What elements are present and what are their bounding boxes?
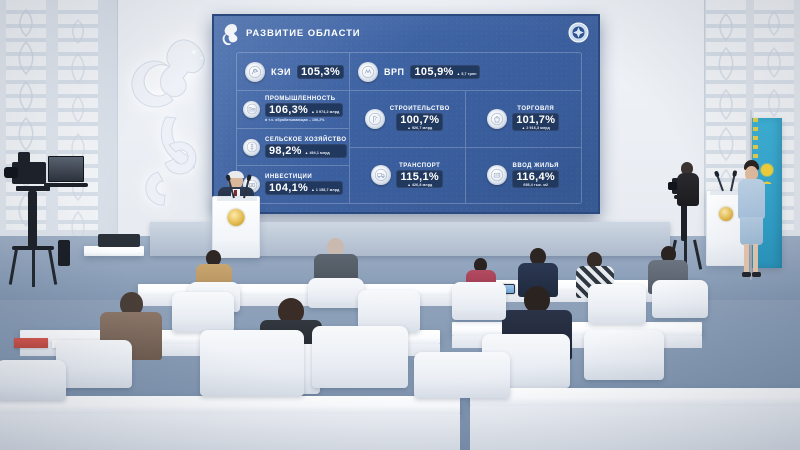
audience-chair-front: [0, 360, 66, 400]
coin-icon: [245, 62, 265, 82]
kpi-value: 116,4%: [516, 171, 555, 183]
audience-chair: [588, 284, 646, 324]
audience-desk-row-1: [0, 396, 460, 414]
presentation-screen[interactable]: РАЗВИТИЕ ОБЛАСТИ: [212, 14, 600, 214]
kpi-value-pill: 105,9% ▲ 5,7 трлн: [410, 65, 480, 79]
kpi-value: 100,7%: [400, 114, 439, 126]
kpi-value-pill: 101,7% ▲ 2 916,3 млрд: [512, 113, 559, 131]
audience-desk-row-1b-front: [470, 406, 800, 450]
audience-chair-front: [312, 326, 408, 388]
speaker-podium: [212, 196, 260, 258]
tripod-leg: [693, 240, 702, 270]
presenter-leg: [753, 244, 758, 274]
state-emblem-icon: [228, 209, 245, 226]
kpi-value: 104,1%: [269, 182, 308, 194]
kpi-note: ▲ 5,7 трлн: [457, 72, 477, 76]
kpi-text: ТРАНСПОРТ 115,1% ▲ 426,8 млрд: [396, 163, 443, 188]
wheat-coin-icon: [243, 139, 260, 156]
kpi-note: ▲ 2 916,3 млрд: [522, 126, 550, 130]
kpi-caption: СТРОИТЕЛЬСТВО: [390, 106, 450, 112]
kpi-value-pill: 105,3%: [297, 65, 344, 79]
kpi-value-pill: 115,1% ▲ 426,8 млрд: [396, 170, 443, 188]
audience-chair-front: [200, 330, 304, 396]
kpi-note: ▲ 426,8 млрд: [407, 183, 432, 187]
kpi-card-transport[interactable]: ТРАНСПОРТ 115,1% ▲ 426,8 млрд: [350, 148, 466, 204]
kpi-note: ▲ 1 158,7 млрд: [311, 188, 339, 192]
teleprompter-mount: [44, 183, 88, 187]
side-table: [84, 246, 144, 256]
kpi-value: 115,1%: [400, 171, 439, 183]
audience-desk-row-1b: [470, 388, 800, 406]
camera-viewfinder: [18, 152, 30, 163]
person-camera-operator: [676, 162, 700, 206]
audience-chair-front: [414, 352, 510, 398]
kpi-card-kei[interactable]: КЭИ 105,3%: [237, 53, 349, 91]
kpi-value-pill: 100,7% ▲ 926,7 млрд: [396, 113, 443, 131]
kpi-caption: ВВОД ЖИЛЬЯ: [513, 163, 559, 169]
kpi-card-vrp[interactable]: ВРП 105,9% ▲ 5,7 трлн: [350, 53, 581, 91]
kpi-caption: КЭИ: [271, 67, 291, 77]
kpi-text: ВВОД ЖИЛЬЯ 116,4% 695,4 тыс. м2: [512, 163, 559, 188]
coin-icon: [358, 62, 378, 82]
kpi-caption: ИНВЕСТИЦИИ: [265, 174, 343, 180]
tripod-column: [28, 191, 37, 249]
tripod-leg: [48, 249, 57, 285]
kpi-text: ПРОМЫШЛЕННОСТЬ 106,3% ▲ 3 974,2 млрд в т…: [265, 96, 343, 122]
kpi-caption: ПРОМЫШЛЕННОСТЬ: [265, 96, 343, 102]
trade-coin-icon: [487, 109, 507, 129]
attendee-head: [524, 286, 550, 313]
presenter-shoe: [752, 272, 761, 277]
kpi-card-industry[interactable]: ПРОМЫШЛЕННОСТЬ 106,3% ▲ 3 974,2 млрд в т…: [237, 91, 349, 129]
kpi-caption: ТРАНСПОРТ: [399, 163, 440, 169]
snow-leopard-emblem-icon: [220, 22, 239, 45]
kpi-card-trade[interactable]: ТОРГОВЛЯ 101,7% ▲ 2 916,3 млрд: [466, 91, 582, 147]
kpi-note: ▲ 494,1 млрд: [305, 151, 330, 155]
audience-desk-row-1-front: [0, 414, 460, 450]
teleprompter-screen: [48, 156, 84, 182]
kpi-value: 105,9%: [414, 66, 453, 78]
operator-torso: [677, 173, 699, 206]
regional-akimat-logo-icon: [568, 22, 589, 43]
kpi-value: 106,3%: [269, 104, 308, 116]
audience-chair: [652, 280, 708, 318]
crane-coin-icon: [365, 109, 385, 129]
kpi-card-construction[interactable]: СТРОИТЕЛЬСТВО 100,7% ▲ 926,7 млрд: [350, 91, 466, 147]
kpi-value-pill: 98,2% ▲ 494,1 млрд: [265, 144, 347, 158]
slide-header: РАЗВИТИЕ ОБЛАСТИ: [214, 16, 598, 50]
factory-coin-icon: [243, 101, 260, 118]
kpi-text: ИНВЕСТИЦИИ 104,1% ▲ 1 158,7 млрд: [265, 174, 343, 195]
state-emblem-icon: [719, 207, 733, 221]
kpi-text: СТРОИТЕЛЬСТВО 100,7% ▲ 926,7 млрд: [390, 106, 450, 131]
kpi-value-pill: 104,1% ▲ 1 158,7 млрд: [265, 181, 343, 195]
kpi-caption: СЕЛЬСКОЕ ХОЗЯЙСТВО: [265, 137, 347, 143]
kpi-value: 98,2%: [269, 145, 302, 157]
floor-microphone: [58, 240, 70, 266]
kpi-row-middle: СТРОИТЕЛЬСТВО 100,7% ▲ 926,7 млрд: [350, 91, 581, 148]
snow-leopard-relief-icon: [124, 22, 224, 212]
kpi-caption: ТОРГОВЛЯ: [517, 106, 554, 112]
conference-hall-scene: РАЗВИТИЕ ОБЛАСТИ: [0, 0, 800, 450]
audience-chair: [56, 340, 132, 388]
kpi-note: ▲ 3 974,2 млрд: [311, 110, 339, 114]
presenter-skirt: [740, 217, 763, 245]
kpi-note: 695,4 тыс. м2: [523, 183, 548, 187]
kpi-value: 105,3%: [301, 66, 340, 78]
kpi-card-agriculture[interactable]: СЕЛЬСКОЕ ХОЗЯЙСТВО 98,2% ▲ 494,1 млрд: [237, 129, 349, 167]
kpi-grid: КЭИ 105,3% ПРОМЫШЛЕННОСТЬ: [236, 52, 582, 204]
kpi-value-pill: 116,4% 695,4 тыс. м2: [512, 170, 559, 188]
loudspeaker: [98, 234, 140, 247]
kpi-subnote: в т.ч. обрабатывающая – 106,2%: [265, 118, 343, 122]
kpi-text: СЕЛЬСКОЕ ХОЗЯЙСТВО 98,2% ▲ 494,1 млрд: [265, 137, 347, 158]
broadcast-camera-left: [2, 146, 98, 286]
podium-top: [217, 197, 257, 201]
kpi-right-column: ВРП 105,9% ▲ 5,7 трлн: [350, 53, 581, 203]
presenter-shoe: [742, 272, 751, 277]
kpi-value: 101,7%: [516, 114, 555, 126]
kpi-row-bottom: ТРАНСПОРТ 115,1% ▲ 426,8 млрд: [350, 148, 581, 204]
camera-lens: [4, 167, 18, 178]
building-coin-icon: [487, 165, 507, 185]
document-folder[interactable]: [14, 338, 48, 348]
truck-coin-icon: [371, 165, 391, 185]
tripod-leg: [32, 249, 35, 287]
kpi-card-housing[interactable]: ВВОД ЖИЛЬЯ 116,4% 695,4 тыс. м2: [466, 148, 582, 204]
kpi-text: ТОРГОВЛЯ 101,7% ▲ 2 916,3 млрд: [512, 106, 559, 131]
kpi-note: ▲ 926,7 млрд: [407, 126, 432, 130]
person-presenter: [735, 162, 767, 280]
slide-title: РАЗВИТИЕ ОБЛАСТИ: [246, 28, 361, 39]
audience-chair: [452, 282, 506, 320]
kpi-caption: ВРП: [384, 67, 404, 77]
audience-chair: [584, 330, 664, 380]
audience-chair: [172, 292, 234, 332]
presenter-leg: [744, 244, 749, 274]
kpi-value-pill: 106,3% ▲ 3 974,2 млрд: [265, 103, 343, 117]
tripod-leg: [9, 249, 18, 285]
presenter-jacket: [738, 179, 765, 219]
